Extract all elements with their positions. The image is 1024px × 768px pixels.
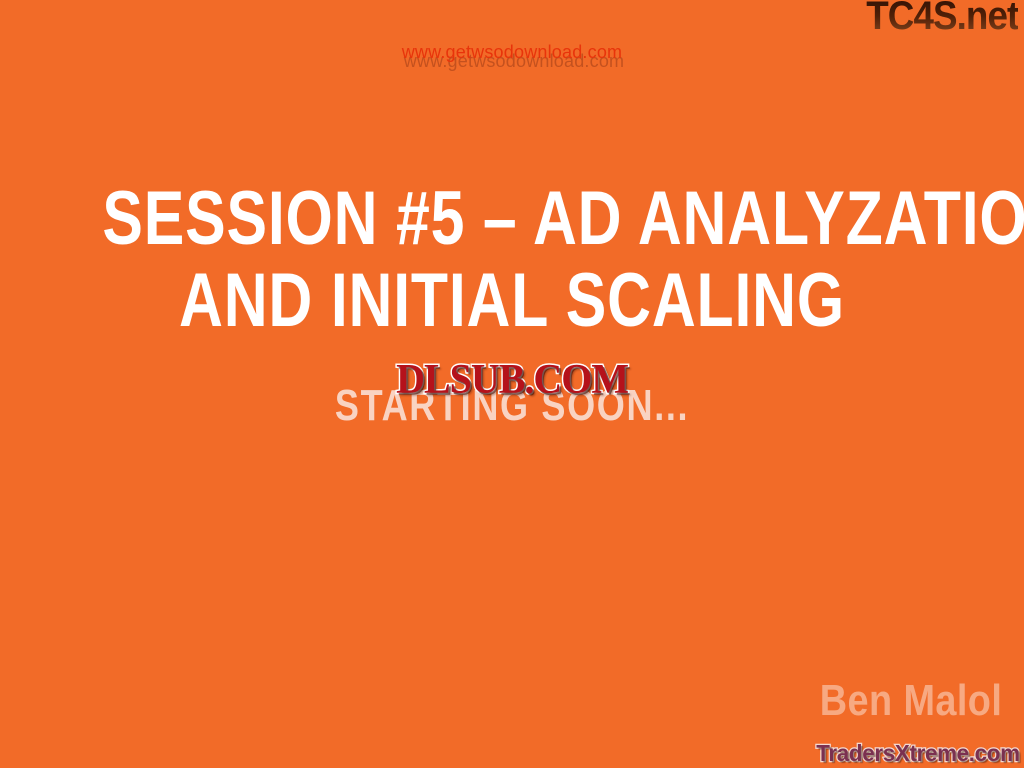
top-url-watermark: www.getwsodownload.com www.getwsodownloa… bbox=[0, 42, 1024, 63]
top-url-watermark-shadow: www.getwsodownload.com bbox=[404, 51, 625, 72]
slide-title-line-2: AND INITIAL SCALING bbox=[102, 260, 921, 342]
top-url-watermark-text: www.getwsodownload.com bbox=[402, 42, 623, 62]
presentation-slide: TC4S.net www.getwsodownload.com www.getw… bbox=[0, 0, 1024, 768]
presenter-name: Ben Malol bbox=[819, 678, 1002, 724]
tradersxtreme-watermark: TradersXtreme.com bbox=[810, 740, 1020, 766]
slide-subtitle: STARTING SOON... bbox=[0, 382, 1024, 430]
tc4s-logo-watermark: TC4S.net bbox=[866, 0, 1018, 38]
slide-subtitle-text: STARTING SOON... bbox=[335, 382, 689, 430]
slide-title-line-1: SESSION #5 – AD ANALYZATION bbox=[102, 178, 921, 260]
tradersxtreme-watermark-text: TradersXtreme.com bbox=[817, 740, 1020, 766]
top-url-watermark-stack: www.getwsodownload.com www.getwsodownloa… bbox=[402, 42, 623, 63]
slide-title: SESSION #5 – AD ANALYZATION AND INITIAL … bbox=[0, 178, 1024, 342]
